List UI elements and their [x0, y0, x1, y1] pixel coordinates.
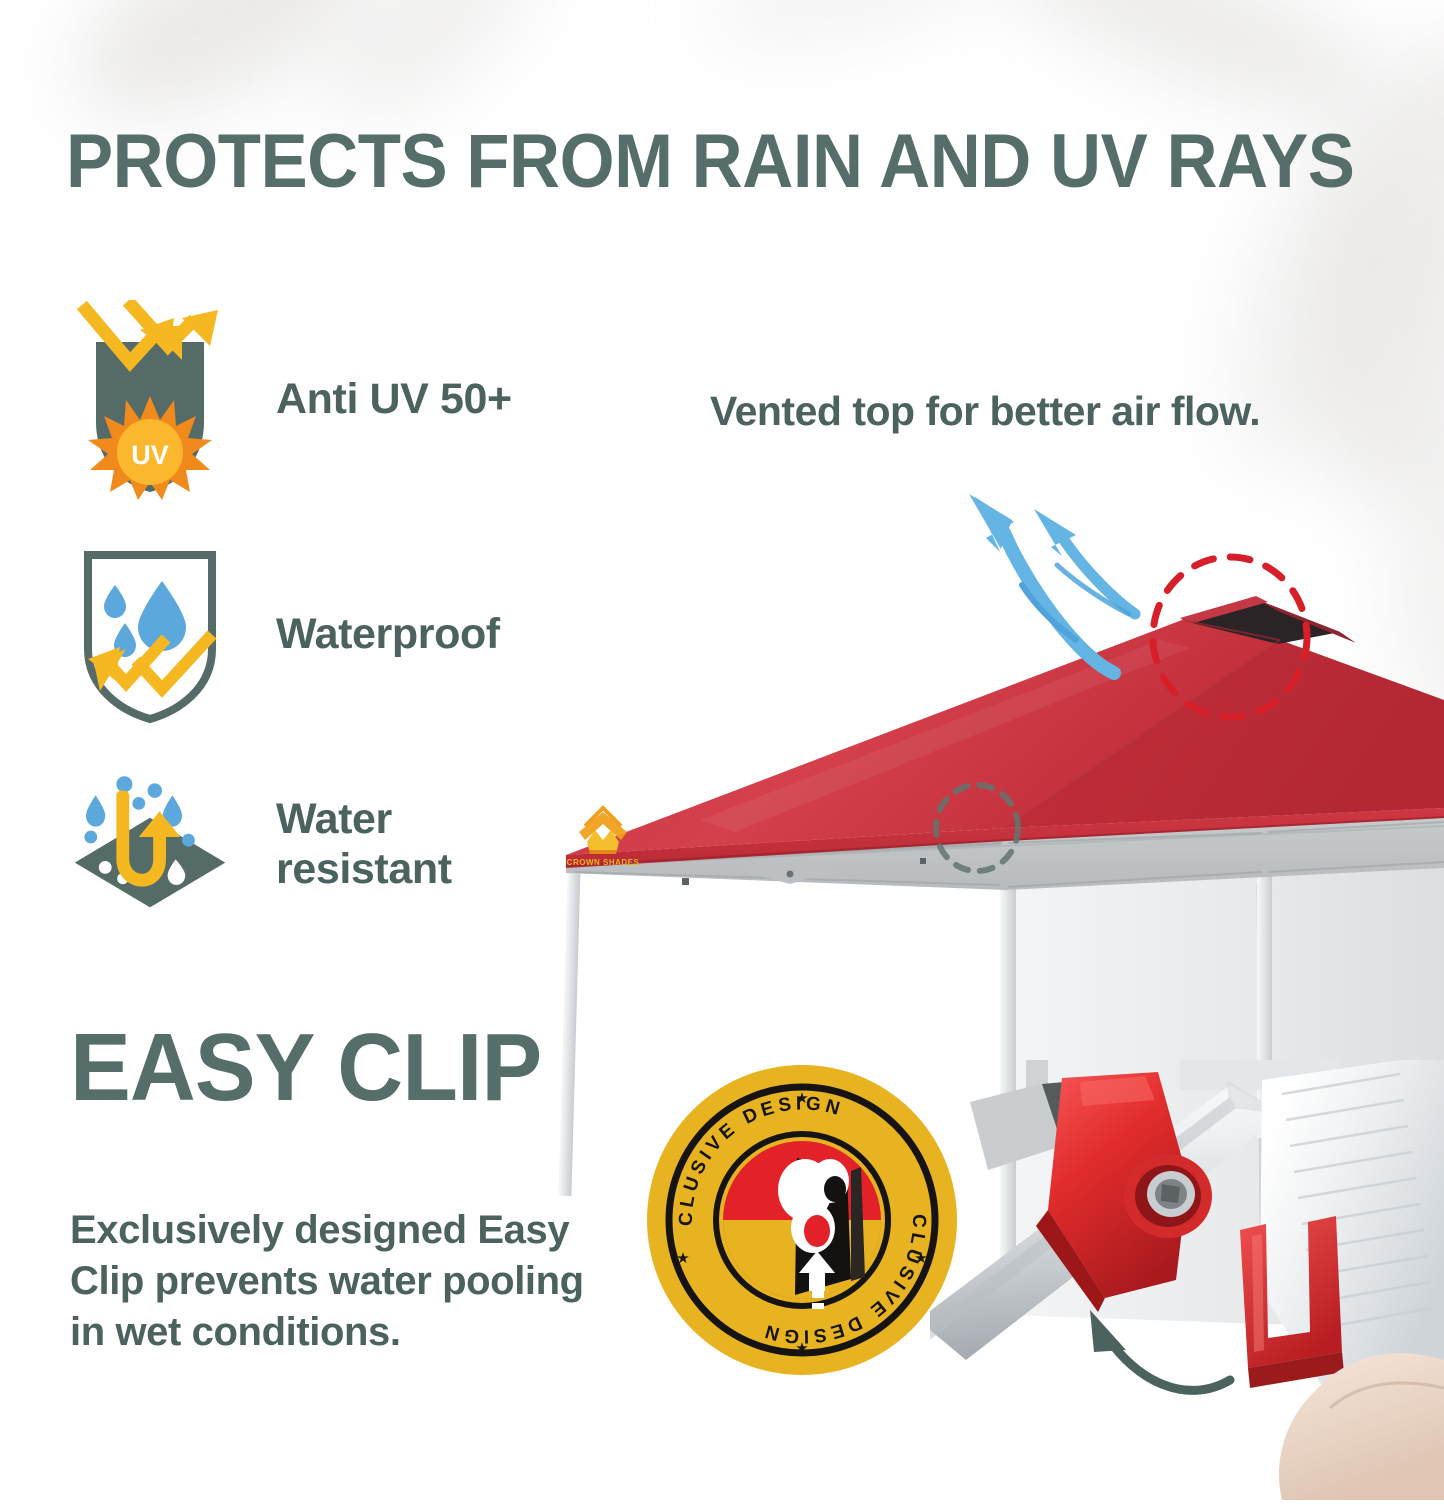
easy-clip-closeup	[930, 1060, 1444, 1500]
uv-badge-text: UV	[131, 440, 169, 470]
badge-star-top: ★	[795, 1090, 808, 1107]
uv-shield-icon: UV	[70, 300, 230, 500]
feature-anti-uv: UV Anti UV 50+	[70, 300, 512, 500]
badge-star-bottom: ★	[795, 1340, 808, 1357]
waterproof-shield-icon	[70, 545, 230, 725]
badge-star-right: ★	[914, 1250, 927, 1267]
feature-label-water-resistant-line1: Water	[276, 795, 392, 843]
feature-waterproof: Waterproof	[70, 545, 500, 725]
water-resistant-icon	[70, 755, 230, 935]
easy-clip-title: EASY CLIP	[70, 1020, 541, 1116]
page-title: PROTECTS FROM RAIN AND UV RAYS	[66, 124, 1355, 200]
badge-star-left: ★	[676, 1250, 689, 1267]
easy-clip-description: Exclusively designed Easy Clip prevents …	[70, 1205, 615, 1359]
feature-water-resistant: Water resistant	[70, 755, 452, 935]
exclusive-design-badge: EXCLUSIVE DESIGN EXCLUSIVE DESIGN ★ ★ ★ …	[645, 1063, 960, 1378]
vented-top-caption: Vented top for better air flow.	[710, 388, 1260, 435]
feature-label-water-resistant: Water resistant	[276, 795, 452, 895]
feature-label-water-resistant-line2: resistant	[276, 845, 452, 893]
feature-label-waterproof: Waterproof	[276, 610, 500, 660]
blue-airflow-arrows	[969, 494, 1135, 673]
svg-text:CROWN SHADES: CROWN SHADES	[567, 858, 640, 867]
feature-label-anti-uv: Anti UV 50+	[276, 375, 512, 425]
clip-direction-arrow	[1090, 1310, 1230, 1390]
